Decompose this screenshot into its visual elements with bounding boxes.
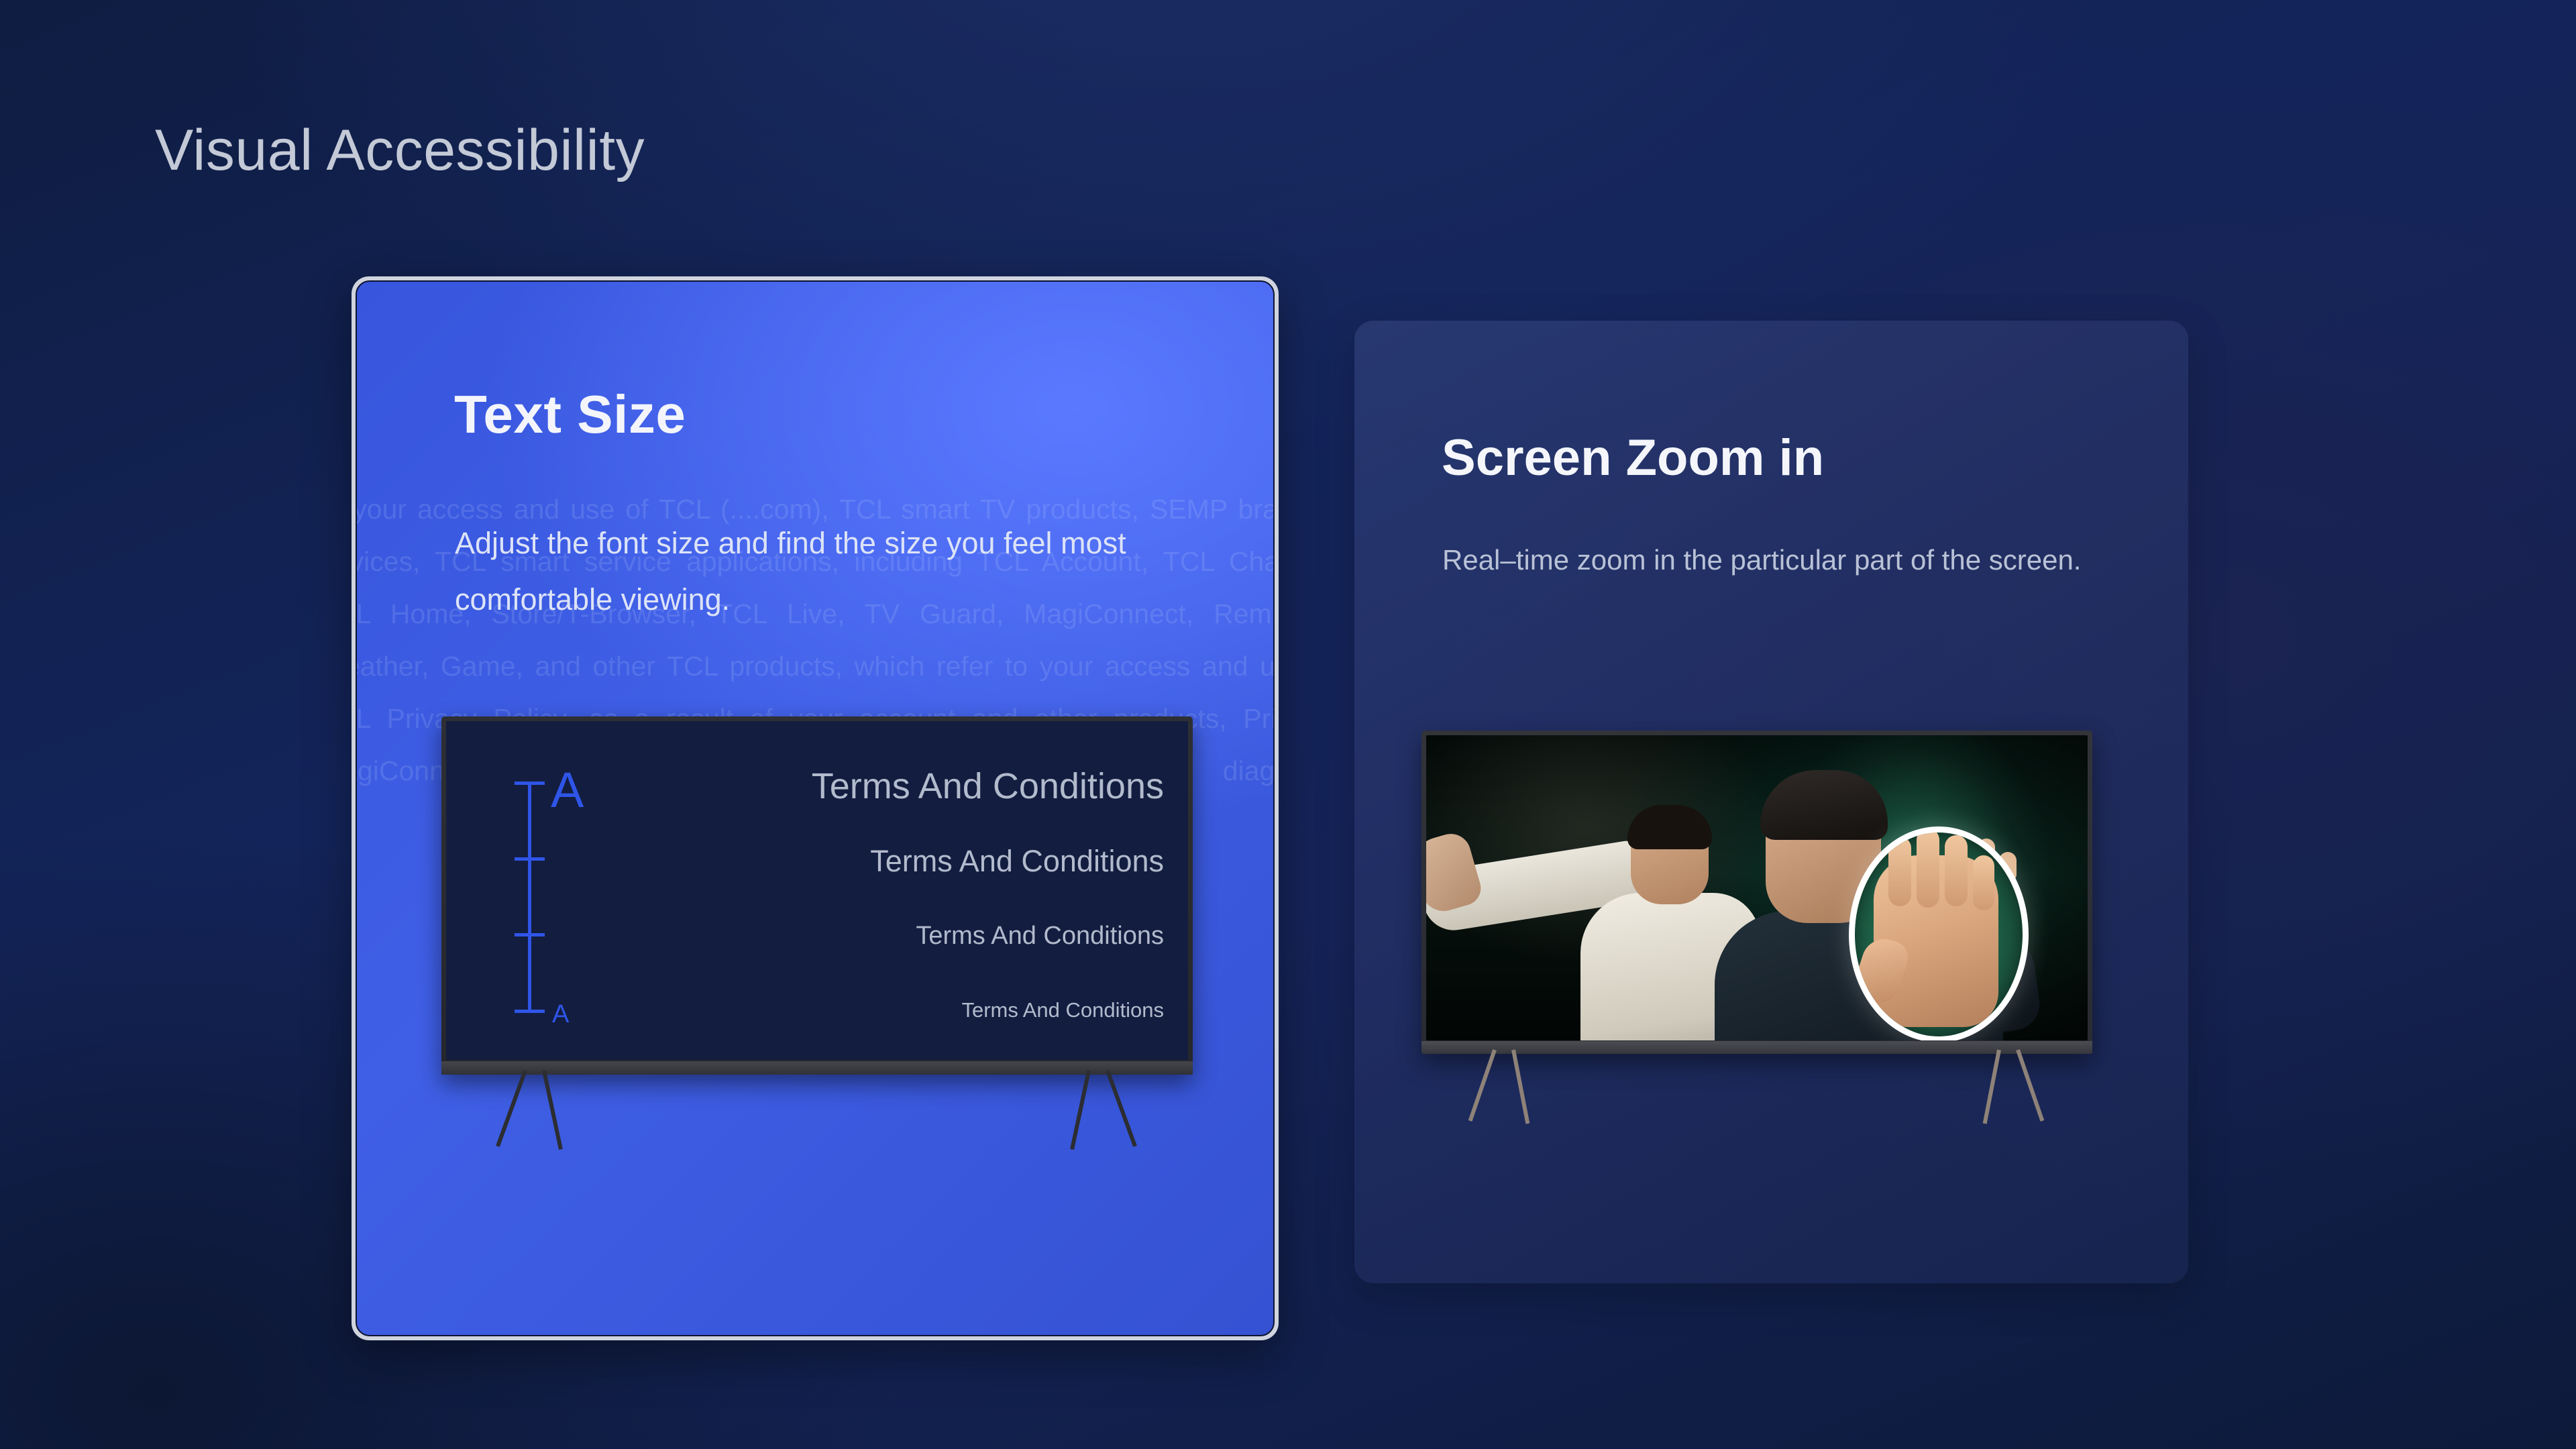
zoom-magnifier-circle[interactable] xyxy=(1849,826,2029,1040)
tv-base xyxy=(441,1061,1193,1075)
page-title: Visual Accessibility xyxy=(155,117,645,184)
tv-leg xyxy=(542,1070,563,1150)
tv-body xyxy=(1421,731,2092,1054)
tv-body: A A Terms And Conditions Terms And Condi… xyxy=(441,716,1193,1075)
slider-tick-1[interactable] xyxy=(515,782,545,785)
tv-base xyxy=(1421,1041,2092,1054)
tv-leg xyxy=(1511,1049,1529,1124)
card-screen-zoom-title: Screen Zoom in xyxy=(1442,429,1824,487)
text-size-preview-row-2[interactable]: Terms And Conditions xyxy=(560,824,1164,898)
tv-mock-screen-zoom xyxy=(1421,731,2092,1054)
tv-leg xyxy=(1468,1049,1497,1122)
tv-leg xyxy=(2016,1049,2044,1122)
tv-mock-text-size: A A Terms And Conditions Terms And Condi… xyxy=(441,716,1193,1075)
slider-tick-3[interactable] xyxy=(515,933,545,936)
card-text-size-title: Text Size xyxy=(454,384,686,445)
tv-leg xyxy=(496,1070,527,1147)
card-text-size-content: Text Size Adjust the font size and find … xyxy=(357,282,1273,1335)
tv-leg xyxy=(1070,1070,1091,1150)
text-size-preview-row-4[interactable]: Terms And Conditions xyxy=(560,973,1164,1047)
card-screen-zoom-in[interactable]: Screen Zoom in Real–time zoom in the par… xyxy=(1354,321,2188,1283)
text-size-preview-list: Terms And Conditions Terms And Condition… xyxy=(560,748,1164,1047)
slider-tick-4[interactable] xyxy=(515,1010,545,1013)
magnified-finger xyxy=(1945,835,1968,906)
tv-leg xyxy=(1106,1070,1137,1147)
tv-screen-movie-scene xyxy=(1426,735,2088,1040)
tv-screen-text-size-dialog: A A Terms And Conditions Terms And Condi… xyxy=(446,721,1188,1060)
card-text-size[interactable]: of your access and use of TCL (....com),… xyxy=(352,276,1279,1340)
card-text-size-surface: of your access and use of TCL (....com),… xyxy=(356,280,1275,1336)
text-size-preview-row-3[interactable]: Terms And Conditions xyxy=(560,898,1164,973)
text-size-preview-row-1[interactable]: Terms And Conditions xyxy=(560,748,1164,824)
card-text-size-description: Adjust the font size and find the size y… xyxy=(455,515,1179,628)
magnified-finger xyxy=(1917,828,1939,908)
magnified-finger xyxy=(1888,837,1911,906)
tv-leg xyxy=(1983,1049,2001,1124)
slider-track[interactable] xyxy=(528,782,531,1013)
card-screen-zoom-description: Real–time zoom in the particular part of… xyxy=(1442,533,2127,587)
slider-tick-2[interactable] xyxy=(515,857,545,861)
magnified-finger xyxy=(1973,855,1994,910)
